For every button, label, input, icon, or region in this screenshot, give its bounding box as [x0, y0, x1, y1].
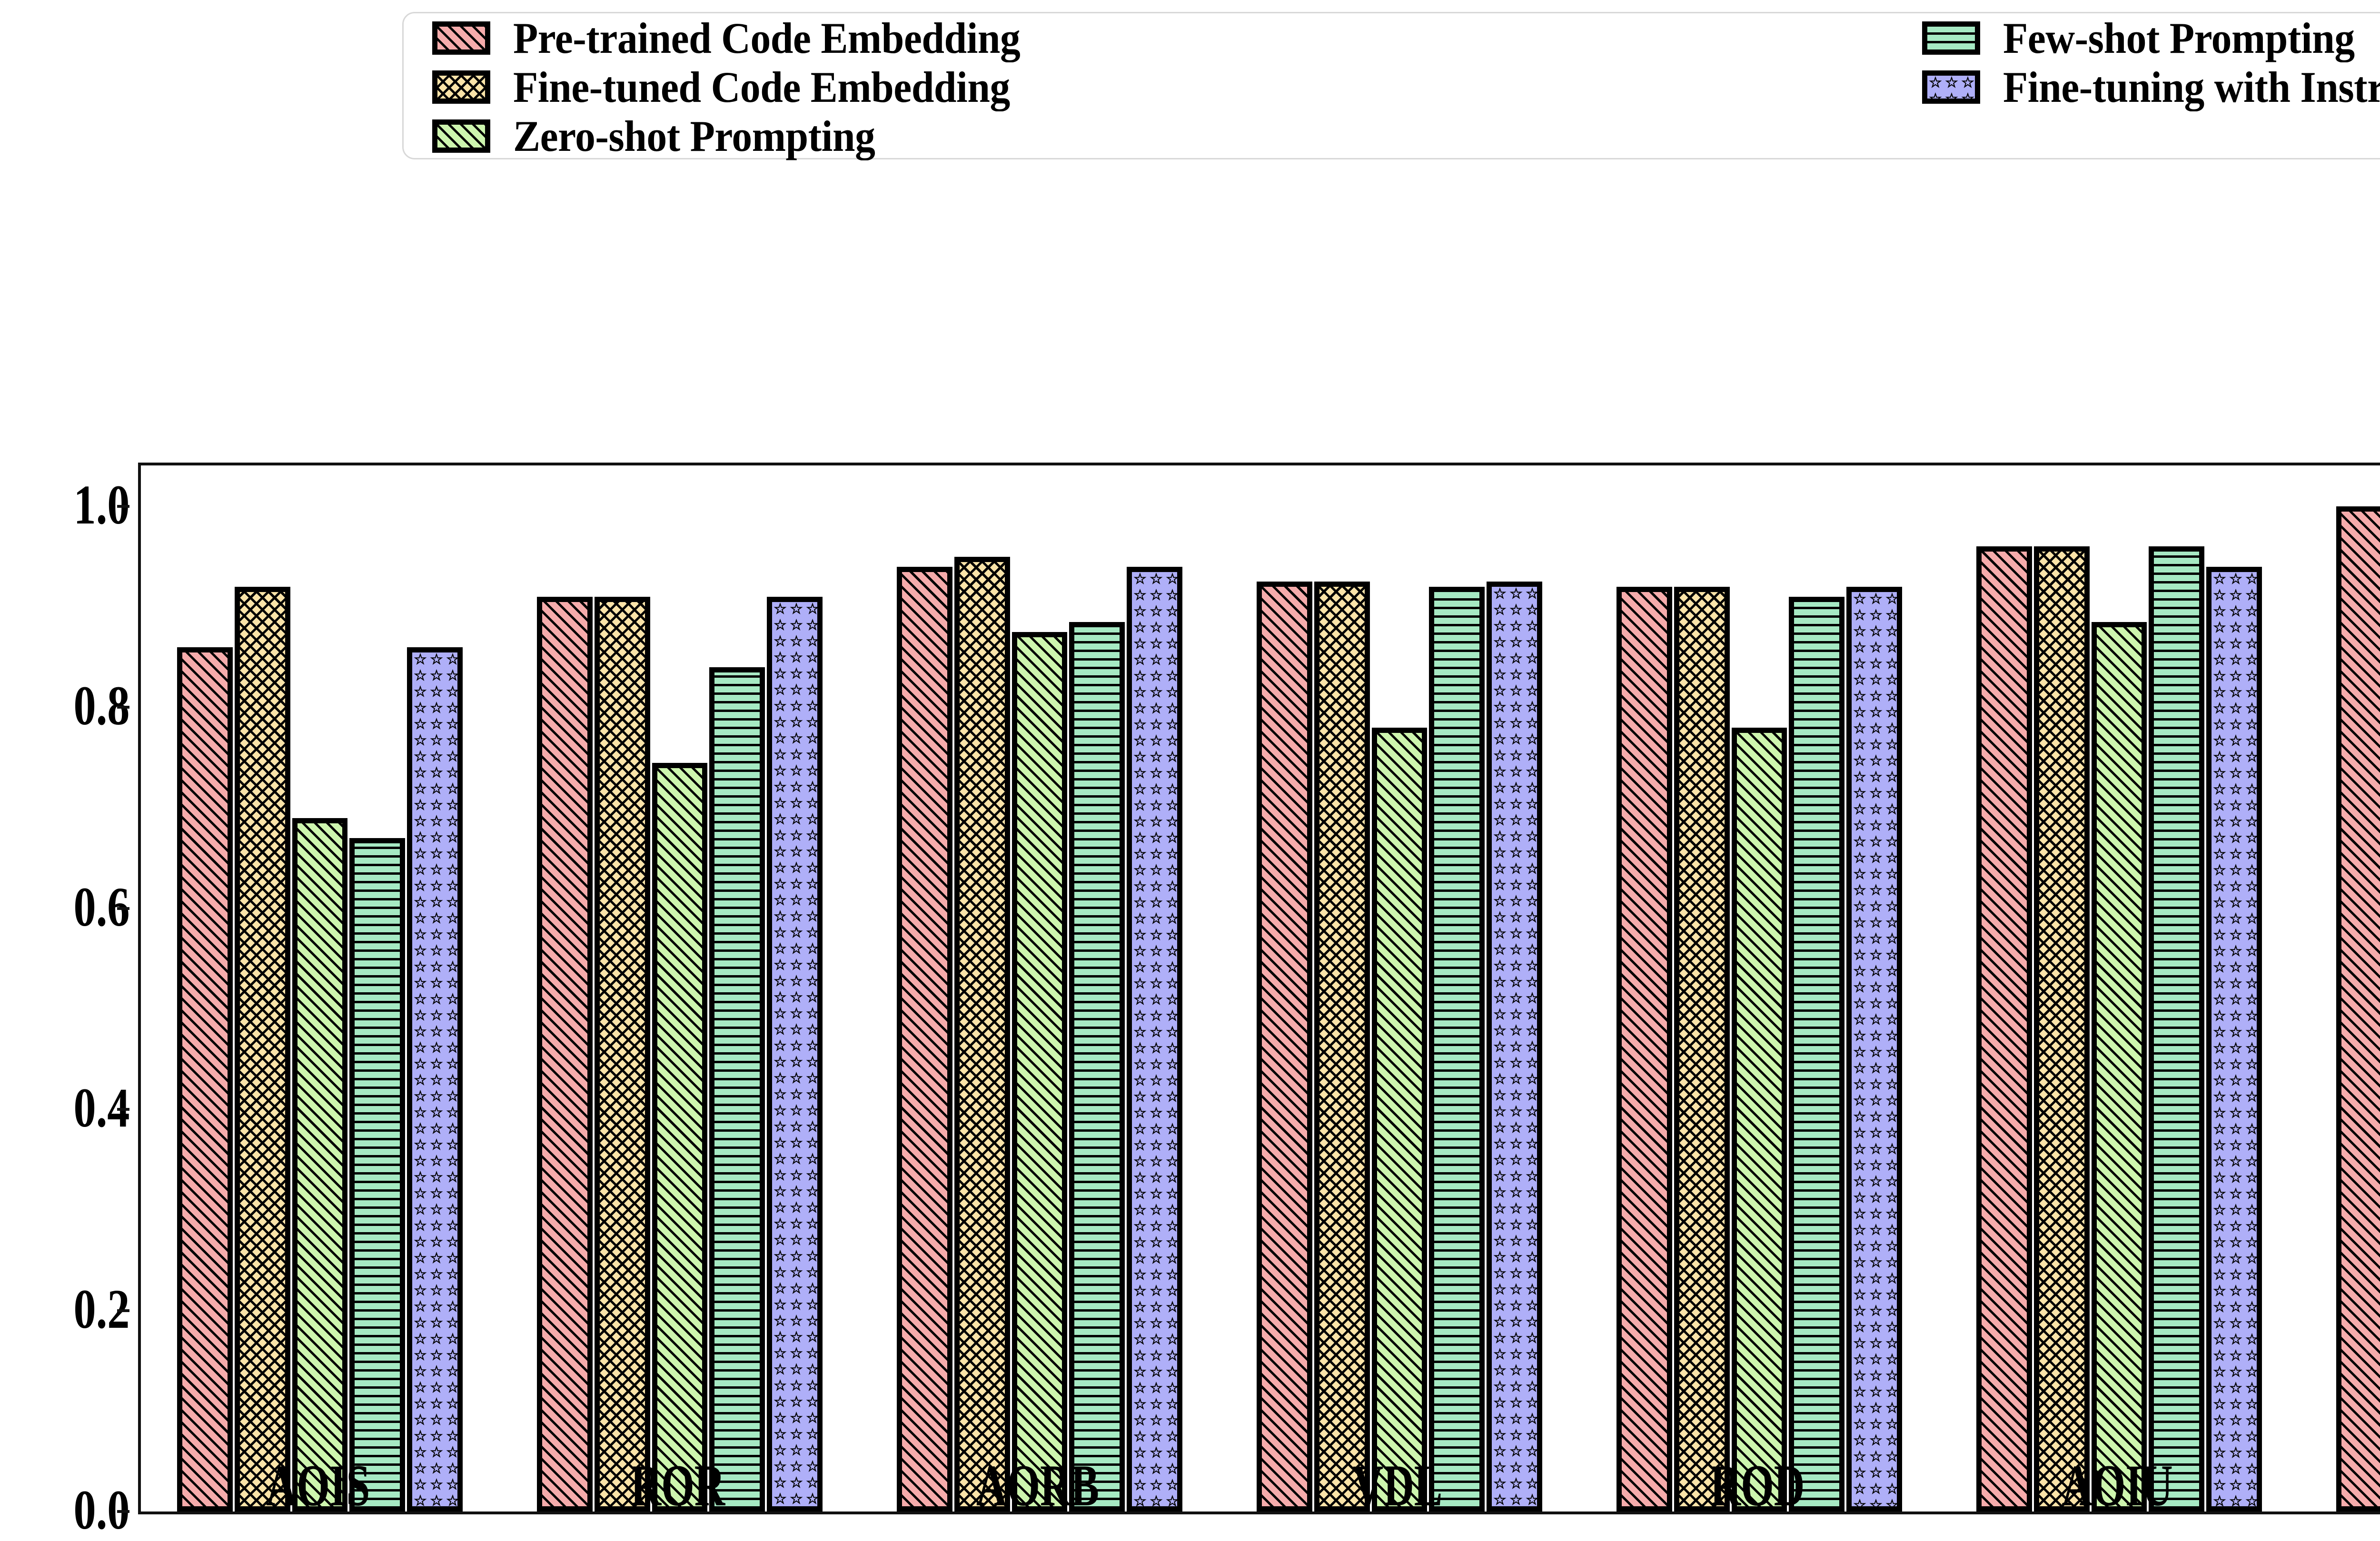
legend-label-zeroshot: Zero-shot Prompting — [513, 114, 875, 158]
bar — [2149, 546, 2204, 1511]
legend-entry-finetuned[interactable]: Fine-tuned Code Embedding — [432, 62, 1059, 111]
bar — [2336, 506, 2380, 1511]
bar — [767, 597, 823, 1511]
bar — [1732, 728, 1787, 1511]
legend-column-right: Few-shot Prompting Fine-tuning with Inst… — [1922, 13, 2380, 111]
x-tick-label: ROD — [1628, 1456, 1887, 1515]
legend-label-pretrained: Pre-trained Code Embedding — [513, 16, 1020, 60]
bar — [709, 667, 765, 1511]
bar — [652, 763, 708, 1511]
x-tick-label: AOIS — [188, 1456, 447, 1515]
bar — [407, 647, 463, 1511]
bar — [595, 597, 650, 1511]
x-tick-label: VDL — [1268, 1456, 1527, 1515]
bar — [1789, 597, 1844, 1511]
legend-entry-fewshot[interactable]: Few-shot Prompting — [1922, 13, 2380, 62]
y-tick-mark — [117, 1309, 129, 1312]
bar — [1429, 587, 1485, 1511]
y-tick-mark — [117, 907, 129, 910]
plot-area — [138, 463, 2380, 1514]
y-tick-mark — [117, 1108, 129, 1111]
y-tick-mark — [117, 706, 129, 709]
legend-swatch-fewshot — [1922, 21, 1980, 55]
legend-entry-instruction[interactable]: Fine-tuning with Instruction — [1922, 62, 2380, 111]
bar — [537, 597, 593, 1511]
bar — [954, 557, 1010, 1511]
legend-column-left: Pre-trained Code Embedding Fine-tuned Co… — [432, 13, 1059, 160]
bar — [1257, 582, 1312, 1511]
bar — [1372, 728, 1428, 1511]
legend-entry-zeroshot[interactable]: Zero-shot Prompting — [432, 111, 1059, 160]
bar — [1616, 587, 1672, 1511]
bar — [349, 838, 405, 1511]
bar — [1487, 582, 1542, 1511]
x-axis: AOISRORAORBVDLRODAOIULOICDLCRSEOD — [138, 1456, 2380, 1528]
bar — [2206, 567, 2262, 1511]
y-tick-mark — [117, 1510, 129, 1513]
x-tick-label: ROR — [548, 1456, 807, 1515]
bar — [1012, 632, 1068, 1511]
legend-swatch-pretrained — [432, 21, 490, 55]
x-tick-label: AOIU — [1988, 1456, 2247, 1515]
y-tick-mark — [117, 505, 129, 508]
y-axis: 0.00.20.40.60.81.0 — [0, 463, 129, 1514]
bar — [1314, 582, 1370, 1511]
x-tick-label: AORB — [908, 1456, 1167, 1515]
legend-label-instruction: Fine-tuning with Instruction — [2003, 65, 2380, 109]
bar — [1976, 546, 2032, 1511]
bar — [1127, 567, 1182, 1511]
bar — [897, 567, 952, 1511]
legend-swatch-instruction — [1922, 70, 1980, 104]
bars-layer — [141, 465, 2380, 1511]
bar — [1846, 587, 1902, 1511]
legend-entry-pretrained[interactable]: Pre-trained Code Embedding — [432, 13, 1059, 62]
legend-swatch-zeroshot — [432, 119, 490, 153]
x-tick-label: LOI — [2348, 1456, 2380, 1515]
legend-swatch-finetuned — [432, 70, 490, 104]
bar — [2092, 622, 2147, 1511]
bar — [2034, 546, 2090, 1511]
legend-box: Pre-trained Code Embedding Fine-tuned Co… — [402, 12, 2380, 159]
legend-label-fewshot: Few-shot Prompting — [2003, 16, 2355, 60]
bar — [292, 818, 348, 1511]
bar — [1069, 622, 1125, 1511]
legend-label-finetuned: Fine-tuned Code Embedding — [513, 65, 1010, 109]
bar — [1674, 587, 1730, 1511]
bar — [235, 587, 290, 1511]
bar — [177, 647, 233, 1511]
